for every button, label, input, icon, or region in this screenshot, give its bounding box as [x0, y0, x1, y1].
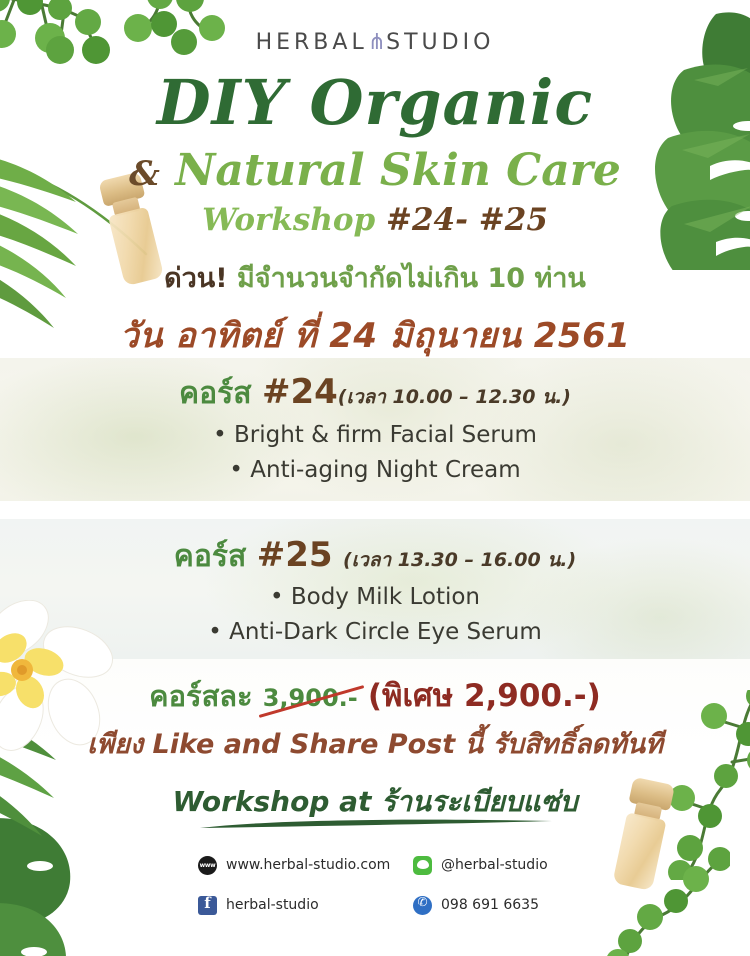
contact-website-text: www.herbal-studio.com [226, 857, 390, 873]
urgency-line: ด่วน! มีจำนวนจำกัดไม่เกิน 10 ท่าน [0, 256, 750, 299]
underline-swoosh [198, 818, 554, 830]
event-date: วัน อาทิตย์ ที่ 24 มิถุนายน 2561 [0, 308, 750, 362]
contact-footer: www.herbal-studio.com @herbal-studio her… [198, 845, 598, 925]
title-line-1: DIY Organic [0, 72, 750, 134]
brand-left-text: HERBAL [256, 30, 368, 55]
price-label: คอร์สละ [149, 679, 252, 713]
course-25-label: คอร์ส [174, 539, 247, 574]
workshop-numbers: #24- #25 [386, 202, 548, 238]
course-24-heading: คอร์ส #24(เวลา 10.00 – 12.30 น.) [0, 370, 750, 417]
contact-line[interactable]: @herbal-studio [413, 856, 598, 875]
promo-line: เพียง Like and Share Post นี้ รับสิทธิ์ล… [0, 722, 750, 765]
list-item: • Body Milk Lotion [0, 580, 750, 615]
course-24-items: • Bright & firm Facial Serum • Anti-agin… [0, 418, 750, 488]
urgent-word: ด่วน! [164, 263, 227, 294]
title-line-2: & Natural Skin Care [0, 148, 750, 194]
contact-phone[interactable]: 098 691 6635 [413, 896, 598, 915]
title-skin-care: Natural Skin Care [175, 145, 621, 196]
line-icon [413, 856, 432, 875]
contact-facebook-text: herbal-studio [226, 897, 319, 913]
course-25-items: • Body Milk Lotion • Anti-Dark Circle Ey… [0, 580, 750, 650]
special-price: (พิเศษ 2,900.-) [368, 678, 601, 714]
course-25-time: (เวลา 13.30 – 16.00 น.) [343, 549, 576, 571]
list-item: • Anti-aging Night Cream [0, 453, 750, 488]
facebook-icon [198, 896, 217, 915]
brand-logo: HERBAL⋔STUDIO [0, 30, 750, 55]
price-line: คอร์สละ 3,900.- (พิเศษ 2,900.-) [0, 670, 750, 720]
poster-canvas: HERBAL⋔STUDIO DIY Organic & Natural Skin… [0, 0, 750, 956]
contact-phone-text: 098 691 6635 [441, 897, 539, 913]
bottle-body [612, 812, 666, 891]
monstera-leaf-bottom-icon [0, 810, 140, 956]
contact-facebook[interactable]: herbal-studio [198, 896, 413, 915]
course-24-time: (เวลา 10.00 – 12.30 น.) [338, 386, 571, 408]
original-price: 3,900.- [263, 684, 358, 712]
www-globe-icon [198, 856, 217, 875]
leaf-logo-icon: ⋔ [368, 30, 386, 55]
contact-website[interactable]: www.herbal-studio.com [198, 856, 413, 875]
workshop-word: Workshop [202, 202, 375, 238]
workshop-line: Workshop #24- #25 [0, 202, 750, 238]
phone-icon [413, 896, 432, 915]
course-24-number: #24 [262, 372, 338, 412]
brand-right-text: STUDIO [386, 30, 494, 55]
course-25-number: #25 [257, 535, 333, 575]
course-24-label: คอร์ส [179, 376, 252, 411]
course-25-heading: คอร์ส #25 (เวลา 13.30 – 16.00 น.) [0, 533, 750, 580]
list-item: • Anti-Dark Circle Eye Serum [0, 615, 750, 650]
urgent-detail: มีจำนวนจำกัดไม่เกิน 10 ท่าน [237, 263, 586, 294]
ampersand-mark: & [129, 154, 160, 194]
contact-line-text: @herbal-studio [441, 857, 548, 873]
list-item: • Bright & firm Facial Serum [0, 418, 750, 453]
